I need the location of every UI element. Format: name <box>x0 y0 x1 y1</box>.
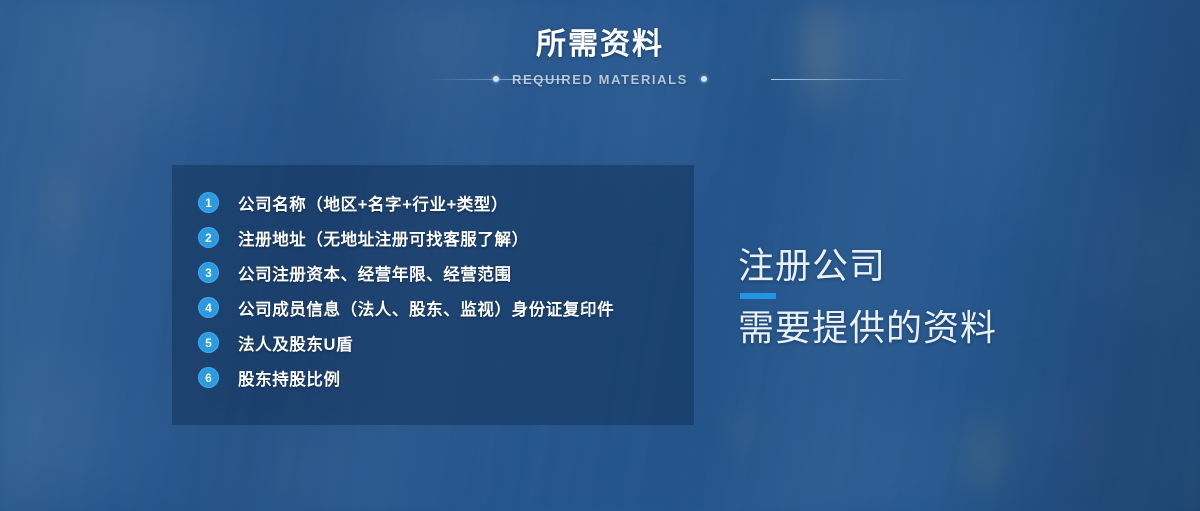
list-item: 6 股东持股比例 <box>198 360 694 395</box>
banner-header: 所需资料 REQUIRED MATERIALS <box>0 26 1200 90</box>
list-number-badge: 2 <box>198 227 219 248</box>
decorative-line-right-bar <box>771 79 909 80</box>
headline-block: 注册公司 需要提供的资料 <box>738 243 997 351</box>
list-item-label: 法人及股东U盾 <box>238 331 353 355</box>
headline-accent-rule <box>740 293 776 299</box>
materials-list: 1 公司名称（地区+名字+行业+类型） 2 注册地址（无地址注册可找客服了解） … <box>198 185 694 395</box>
list-number-badge: 3 <box>198 262 219 283</box>
page-title: 所需资料 <box>0 26 1200 64</box>
list-number-badge: 6 <box>198 367 219 388</box>
list-item-label: 公司注册资本、经营年限、经营范围 <box>238 261 512 285</box>
list-number-badge: 4 <box>198 297 219 318</box>
list-item-label: 股东持股比例 <box>238 366 341 390</box>
list-item: 5 法人及股东U盾 <box>198 325 694 360</box>
list-number-badge: 1 <box>198 192 219 213</box>
list-item: 4 公司成员信息（法人、股东、监视）身份证复印件 <box>198 290 694 325</box>
subtitle-row: REQUIRED MATERIALS <box>0 68 1200 90</box>
decorative-dot-left-icon <box>493 76 499 82</box>
decorative-dot-right-icon <box>701 76 707 82</box>
list-item: 3 公司注册资本、经营年限、经营范围 <box>198 255 694 290</box>
headline-line-2: 需要提供的资料 <box>738 305 997 351</box>
materials-panel: 1 公司名称（地区+名字+行业+类型） 2 注册地址（无地址注册可找客服了解） … <box>172 165 694 425</box>
list-item-label: 公司成员信息（法人、股东、监视）身份证复印件 <box>238 296 614 320</box>
decorative-line-right-icon <box>702 75 840 84</box>
list-item: 1 公司名称（地区+名字+行业+类型） <box>198 185 694 220</box>
list-number-badge: 5 <box>198 332 219 353</box>
banner-root: 所需资料 REQUIRED MATERIALS 1 公司名称（地区+名字+行业+… <box>0 0 1200 511</box>
list-item-label: 注册地址（无地址注册可找客服了解） <box>238 226 529 250</box>
list-item: 2 注册地址（无地址注册可找客服了解） <box>198 220 694 255</box>
decorative-line-left-icon <box>360 75 498 84</box>
headline-line-1: 注册公司 <box>738 243 997 289</box>
list-item-label: 公司名称（地区+名字+行业+类型） <box>238 191 508 215</box>
